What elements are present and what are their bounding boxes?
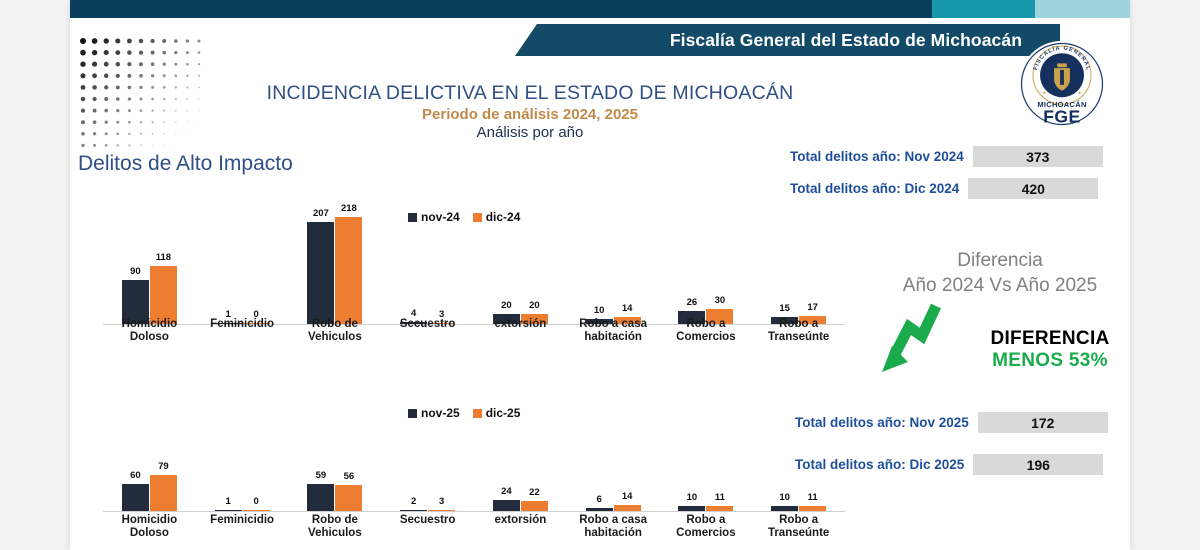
bar-value-label: 90 [130,266,141,277]
page-title: INCIDENCIA DELICTIVA EN EL ESTADO DE MIC… [0,82,1060,105]
scope-subtitle: Análisis por año [0,124,1060,141]
bar-value-label: 10 [687,492,698,503]
category-label: Robo a casa habitación [567,318,660,344]
bar-nov-25-robo-a-comercios: 10 [678,506,705,511]
bar-value-label: 10 [779,492,790,503]
bar-dic-25-secuestro: 3 [428,510,455,512]
difference-line1: Diferencia [880,248,1120,273]
bar-group: 614 [567,401,660,511]
category-label: Robo a casa habitación [567,514,660,540]
bar-value-label: 59 [316,470,327,481]
difference-badge-label: DIFERENCIA [980,328,1120,350]
total-value-box: 196 [973,454,1103,475]
total-value-box: 172 [978,412,1108,433]
category-label: Robo a Transeúnte [752,318,845,344]
category-label: Secuestro [381,318,474,331]
band-light-teal [1035,0,1130,18]
bar-group: 2422 [474,401,567,511]
bar-group: 2630 [660,206,753,324]
bar-group: 2020 [474,206,567,324]
category-label: Feminicidio [196,514,289,527]
category-label: Robo a Comercios [660,514,753,540]
top-color-band [70,0,1130,18]
bar-dic-25-robo-a-casa-habitación: 14 [614,505,641,511]
difference-heading: Diferencia Año 2024 Vs Año 2025 [880,248,1120,298]
bar-value-label: 79 [158,461,169,472]
period-subtitle: Periodo de análisis 2024, 2025 [0,106,1060,123]
bar-group: 43 [381,206,474,324]
bar-group: 1014 [567,206,660,324]
bar-dic-25-robo-de-vehiculos: 56 [335,485,362,511]
bar-value-label: 56 [344,471,355,482]
chart-2025: 607910595623242261410111011 [85,396,845,512]
category-label: Robo a Comercios [660,318,753,344]
bar-group: 5956 [289,401,382,511]
band-navy [70,0,950,18]
chart-2024: 9011810207218432020101426301517 [85,200,845,325]
bar-value-label: 30 [715,295,726,306]
bar-value-label: 26 [687,297,698,308]
bar-value-label: 6 [596,494,601,505]
total-row-nov-2024: Total delitos año: Nov 2024 373 [790,146,1103,167]
difference-badge: DIFERENCIA MENOS 53% [980,328,1120,372]
bar-value-label: 15 [779,303,790,314]
bar-value-label: 1 [225,496,230,507]
category-label: Homicidio Doloso [103,514,196,540]
bar-nov-25-robo-a-casa-habitación: 6 [586,508,613,511]
org-title: Fiscalía General del Estado de Michoacán [670,30,1022,51]
chart-axis-line [103,511,845,512]
bar-dic-25-extorsión: 22 [521,501,548,511]
bar-value-label: 207 [313,208,329,219]
bar-value-label: 0 [253,496,258,507]
category-label: Robo de Vehiculos [289,514,382,540]
total-value-box: 373 [973,146,1103,167]
bar-value-label: 11 [715,492,725,503]
bar-value-label: 14 [622,303,633,314]
bar-group: 10 [196,401,289,511]
bar-value-label: 22 [529,487,540,498]
bar-dic-24-robo-de-vehiculos: 218 [335,217,362,324]
difference-line2: Año 2024 Vs Año 2025 [880,273,1120,298]
difference-badge-value: MENOS 53% [980,350,1120,372]
bar-value-label: 218 [341,203,357,214]
bar-value-label: 2 [411,496,416,507]
bar-dic-25-robo-a-comercios: 11 [706,506,733,511]
bar-dic-25-homicidio-doloso: 79 [150,475,177,511]
total-row-dic-2024: Total delitos año: Dic 2024 420 [790,178,1098,199]
bar-group: 6079 [103,401,196,511]
total-value-box: 420 [968,178,1098,199]
bar-value-label: 60 [130,470,141,481]
bar-value-label: 20 [529,300,540,311]
category-label: extorsión [474,318,567,331]
bar-value-label: 17 [807,302,818,313]
org-header-banner: Fiscalía General del Estado de Michoacán [515,24,1060,56]
category-label: Robo de Vehiculos [289,318,382,344]
bar-value-label: 11 [808,492,818,503]
total-label: Total delitos año: Nov 2024 [790,149,973,164]
bar-group: 90118 [103,206,196,324]
bar-value-label: 24 [501,486,512,497]
bar-group: 1517 [752,206,845,324]
category-label: Robo a Transeúnte [752,514,845,540]
bar-dic-25-robo-a-transeúnte: 11 [799,506,826,511]
bar-value-label: 20 [501,300,512,311]
category-label: Secuestro [381,514,474,527]
bar-nov-25-extorsión: 24 [493,500,520,511]
bar-nov-24-robo-de-vehiculos: 207 [307,222,334,324]
bar-group: 23 [381,401,474,511]
down-trend-arrow-icon [878,300,988,375]
bar-group: 1011 [752,401,845,511]
bar-group: 1011 [660,401,753,511]
section-heading: Delitos de Alto Impacto [78,152,293,176]
bar-group: 10 [196,206,289,324]
total-label: Total delitos año: Dic 2024 [790,181,968,196]
bar-nov-25-homicidio-doloso: 60 [122,484,149,512]
bar-dic-24-homicidio-doloso: 118 [150,266,177,324]
bar-dic-25-feminicidio: 0 [243,510,270,512]
bar-value-label: 10 [594,305,605,316]
bar-nov-25-secuestro: 2 [400,510,427,512]
bar-value-label: 3 [439,496,444,507]
category-label: Homicidio Doloso [103,318,196,344]
category-label: Feminicidio [196,318,289,331]
bar-value-label: 14 [622,491,633,502]
bar-nov-25-robo-de-vehiculos: 59 [307,484,334,511]
bar-nov-25-feminicidio: 1 [215,510,242,512]
category-label: extorsión [474,514,567,527]
bar-value-label: 118 [156,252,171,263]
bar-group: 207218 [289,206,382,324]
bar-nov-25-robo-a-transeúnte: 10 [771,506,798,511]
